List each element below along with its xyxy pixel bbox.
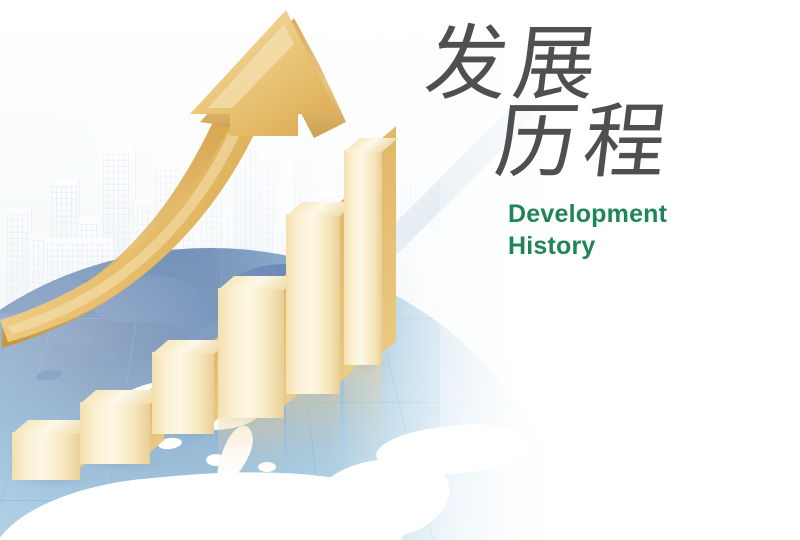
english-title: Development History <box>508 198 756 262</box>
chart-bar <box>12 432 80 480</box>
banner-image: 发展 历程 Development History <box>0 0 800 540</box>
chart-bar <box>152 352 214 434</box>
rising-arrow-icon <box>0 4 354 354</box>
english-title-line-2: History <box>508 230 756 262</box>
bar-front-face <box>80 402 150 464</box>
bar-reflection <box>218 418 284 478</box>
bar-reflection <box>286 394 340 477</box>
bar-side-face <box>382 126 396 353</box>
bar-reflection <box>344 365 382 464</box>
calligraphy-title: 发展 历程 <box>426 24 756 184</box>
english-title-line-1: Development <box>508 198 756 230</box>
calligraphy-line-1: 发展 <box>421 24 761 106</box>
chart-bar <box>80 402 150 464</box>
bar-front-face <box>152 352 214 434</box>
bar-front-face <box>12 432 80 480</box>
title-block: 发展 历程 Development History <box>426 24 756 262</box>
top-edge <box>0 0 800 2</box>
calligraphy-line-2: 历程 <box>491 102 761 184</box>
